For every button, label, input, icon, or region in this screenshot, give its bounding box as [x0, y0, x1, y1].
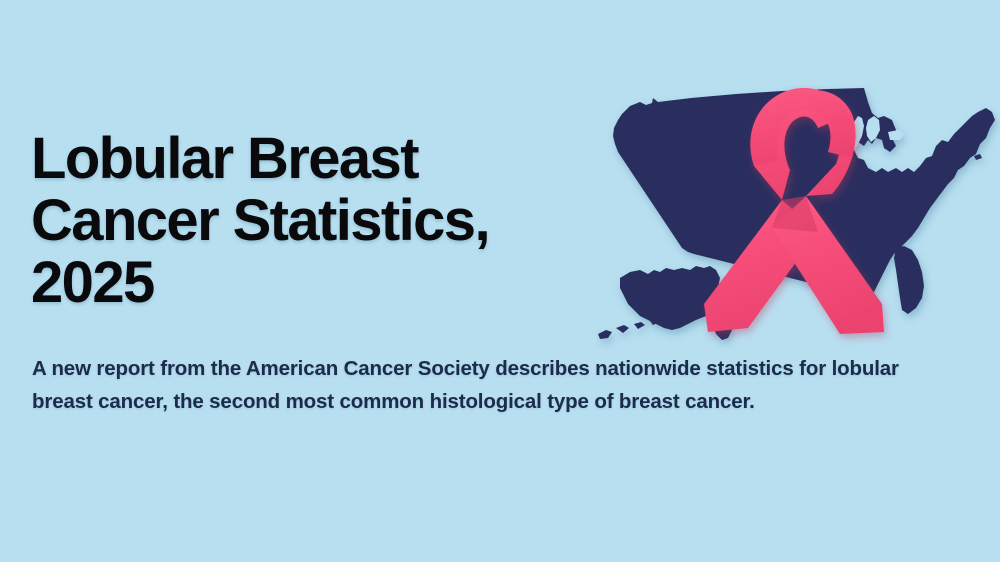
- us-map-ribbon-graphic: [596, 72, 1000, 356]
- headline-block: Lobular Breast Cancer Statistics, 2025: [31, 128, 651, 314]
- page-title: Lobular Breast Cancer Statistics, 2025: [31, 128, 651, 314]
- poster-canvas: Lobular Breast Cancer Statistics, 2025 A…: [0, 0, 1000, 562]
- florida-shape: [894, 246, 924, 314]
- subtitle-text: A new report from the American Cancer So…: [32, 352, 947, 418]
